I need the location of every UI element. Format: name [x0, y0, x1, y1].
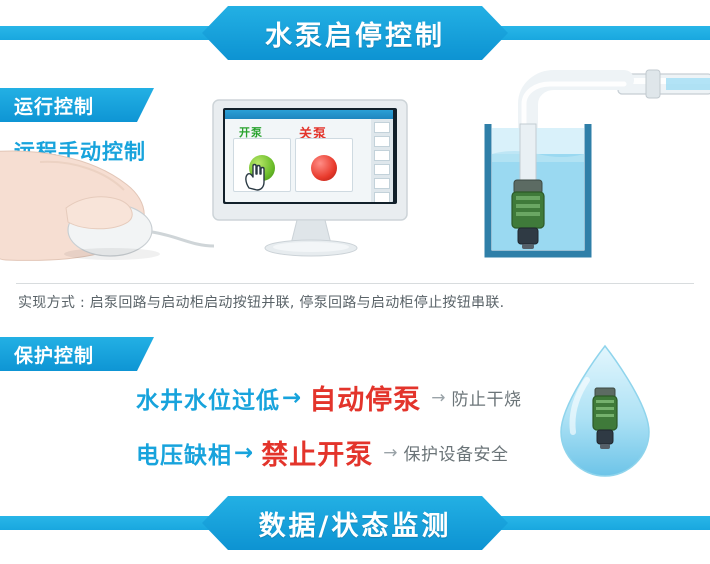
bottom-banner: 数据/状态监测 [0, 496, 710, 552]
screen-side-item [374, 192, 390, 202]
bottom-banner-title: 数据/状态监测 [259, 504, 452, 543]
top-banner-plate: 水泵启停控制 [202, 6, 508, 60]
screen-titlebar [225, 110, 393, 119]
screen-side-item [374, 178, 390, 189]
hand-cursor-icon [243, 162, 269, 192]
screen-side-item [374, 150, 390, 161]
top-banner: 水泵启停控制 [0, 6, 710, 62]
protect-control-tag: 保护控制 [0, 337, 154, 371]
stop-pump-button[interactable] [295, 138, 353, 192]
protect-row-1-effect: 防止干烧 [452, 385, 522, 410]
protect-row-1-arrow2-icon: → [431, 388, 445, 408]
protect-row-2: 电压缺相 → 禁止开泵 → 保护设备安全 [136, 433, 509, 472]
poster-root: 水泵启停控制 运行控制 远程手动控制 [0, 0, 710, 564]
note-divider [16, 283, 694, 284]
monitor-screen-content: 开泵 关泵 [225, 110, 393, 202]
run-control-tag-label: 运行控制 [14, 92, 94, 119]
protect-row-1: 水井水位过低 → 自动停泵 → 防止干烧 [136, 378, 522, 417]
bottom-banner-plate: 数据/状态监测 [202, 496, 508, 550]
protect-control-tag-label: 保护控制 [14, 341, 94, 368]
stop-pump-knob-icon [311, 155, 337, 181]
screen-side-list [371, 119, 393, 202]
screen-side-item [374, 164, 390, 175]
protect-row-1-condition: 水井水位过低 [136, 381, 280, 415]
protect-row-2-condition: 电压缺相 [136, 436, 232, 470]
water-drop-icon [545, 340, 665, 485]
top-banner-title: 水泵启停控制 [265, 14, 445, 53]
protect-row-2-action: 禁止开泵 [261, 433, 373, 472]
screen-side-item [374, 136, 390, 147]
run-control-tag: 运行控制 [0, 88, 154, 122]
desktop-monitor-icon: 开泵 关泵 [205, 98, 420, 263]
protect-row-2-arrow-icon: → [234, 440, 253, 466]
screen-side-item [374, 122, 390, 133]
well-submersible-pump-icon [470, 58, 710, 268]
protect-row-1-arrow-icon: → [282, 385, 301, 411]
protect-row-2-arrow2-icon: → [383, 443, 397, 463]
protect-row-2-effect: 保护设备安全 [404, 440, 509, 465]
hand-on-mouse-icon [0, 150, 215, 270]
protect-row-1-action: 自动停泵 [309, 378, 421, 417]
note-text: 实现方式 : 启泵回路与启动柜启动按钮并联, 停泵回路与启动柜停止按钮串联. [18, 292, 504, 312]
